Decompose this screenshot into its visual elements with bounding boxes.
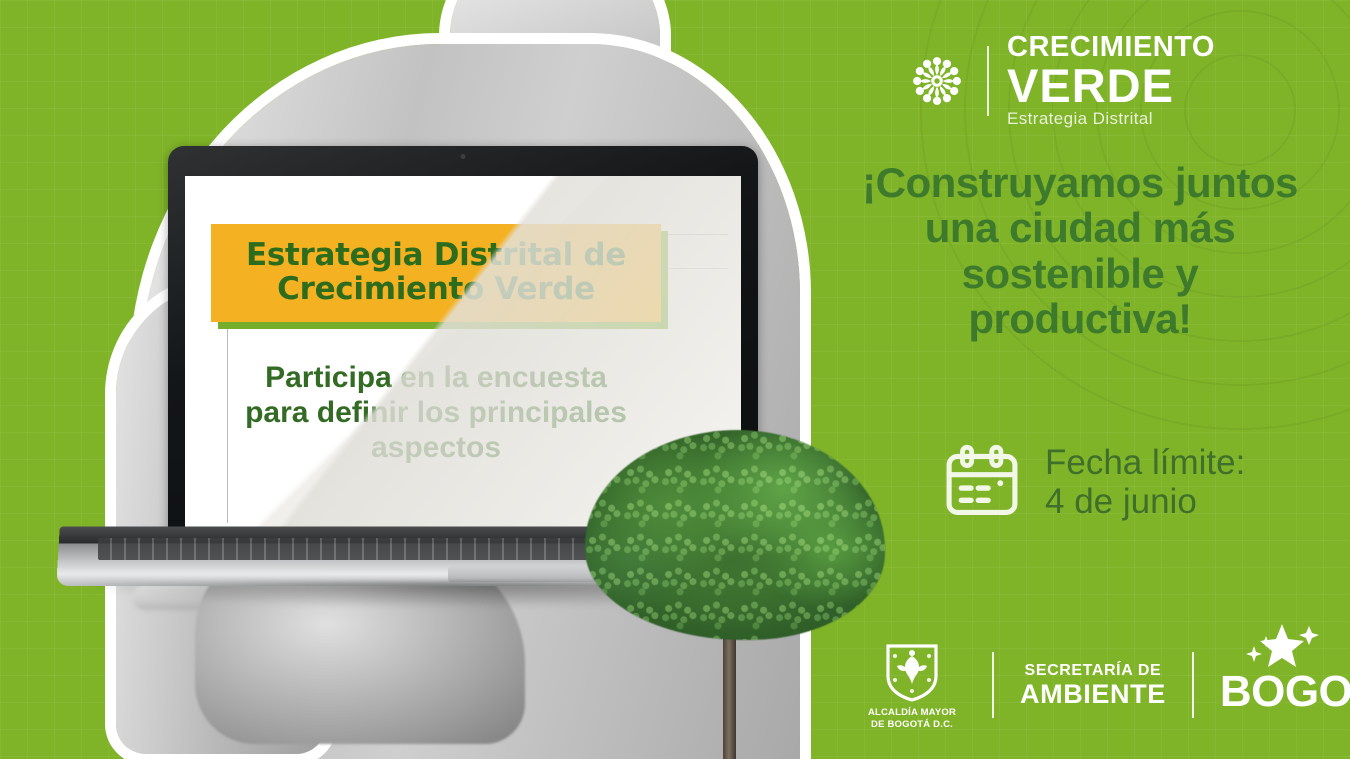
deadline-text-block: Fecha límite: 4 de junio xyxy=(1045,443,1245,521)
secretaria-line-1: SECRETARÍA DE xyxy=(1025,662,1162,680)
bogota-coat-of-arms-icon xyxy=(883,640,941,702)
flower-sunburst-icon xyxy=(905,49,969,113)
calendar-icon xyxy=(943,443,1021,521)
alcaldia-caption: ALCALDÍA MAYOR DE BOGOTÁ D.C. xyxy=(868,707,956,731)
body-text-line-1: Participa en la encuesta xyxy=(205,361,667,396)
alcaldia-caption-line-2: DE BOGOTÁ D.C. xyxy=(871,719,953,730)
brand-divider xyxy=(987,46,989,116)
banner-orange-plate: Estrategia Distrital de Crecimiento Verd… xyxy=(211,224,661,322)
deadline-label: Fecha límite: xyxy=(1045,443,1245,482)
secretaria-ambiente-logo: SECRETARÍA DE AMBIENTE xyxy=(1020,662,1166,708)
brand-lockup: CRECIMIENTO VERDE Estrategia Distrital xyxy=(905,33,1215,129)
bogota-wordmark: BOGOT xyxy=(1220,670,1350,714)
bogota-stars-icon xyxy=(1238,622,1322,668)
tree-foliage-texture xyxy=(585,430,885,640)
footer-divider xyxy=(992,652,994,718)
poster-canvas: × Estrategia Distrital de Crecimiento Ve… xyxy=(0,0,1350,759)
footer-divider xyxy=(1192,652,1194,718)
brand-name-main: VERDE xyxy=(1007,62,1215,110)
alcaldia-logo: ALCALDÍA MAYOR DE BOGOTÁ D.C. xyxy=(858,640,966,731)
banner-title-line-1: Estrategia Distrital de xyxy=(221,238,651,272)
body-text-line-2: para definir los principales xyxy=(205,396,667,431)
page-title: ¡Construyamos juntos una ciudad más sost… xyxy=(860,160,1300,341)
deadline-block: Fecha límite: 4 de junio xyxy=(943,443,1245,521)
deadline-value: 4 de junio xyxy=(1045,482,1245,521)
secretaria-line-2: AMBIENTE xyxy=(1020,680,1166,708)
brand-tagline: Estrategia Distrital xyxy=(1007,110,1215,129)
footer-logo-bar: ALCALDÍA MAYOR DE BOGOTÁ D.C. SECRETARÍA… xyxy=(858,640,1350,731)
photo-composite: × Estrategia Distrital de Crecimiento Ve… xyxy=(0,0,900,759)
banner-title-line-2: Crecimiento Verde xyxy=(221,272,651,306)
bogota-wordmark-logo: BOGOT xyxy=(1220,656,1350,714)
brand-name-top: CRECIMIENTO xyxy=(1007,33,1215,62)
tree-illustration xyxy=(585,430,895,759)
alcaldia-caption-line-1: ALCALDÍA MAYOR xyxy=(868,707,956,718)
brand-text-block: CRECIMIENTO VERDE Estrategia Distrital xyxy=(1007,33,1215,129)
screen-title-banner: Estrategia Distrital de Crecimiento Verd… xyxy=(211,224,661,322)
